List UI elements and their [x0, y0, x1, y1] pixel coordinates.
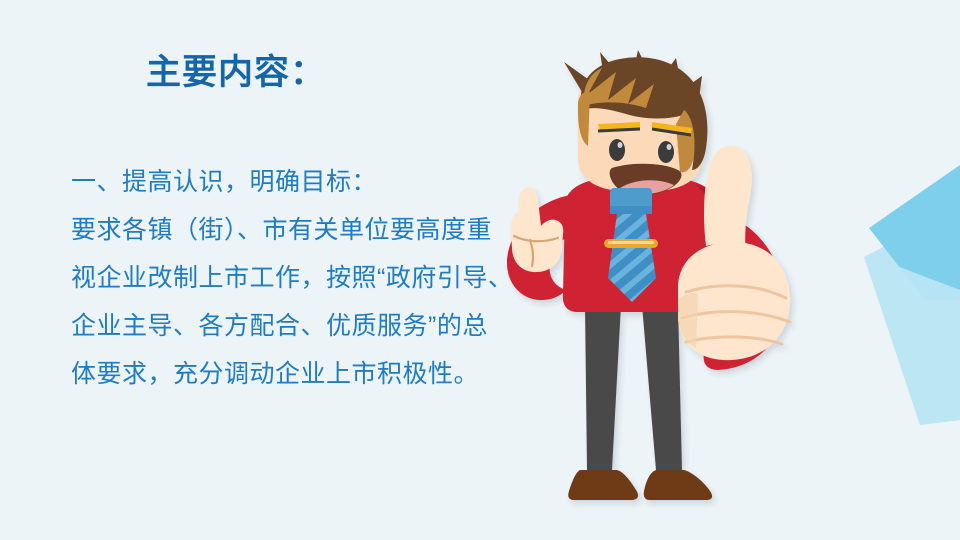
- left-leg: [585, 305, 621, 470]
- body-line-5: 体要求，充分调动企业上市积极性。: [71, 350, 511, 398]
- body-line-3: 视企业改制上市工作，按照“政府引导、: [71, 254, 511, 302]
- head: [564, 50, 707, 195]
- left-shoe: [568, 470, 638, 500]
- legs: [585, 305, 682, 470]
- left-eyebrow-underline: [598, 129, 640, 131]
- thumb: [704, 146, 752, 254]
- right-arm-thumbs-up: [678, 146, 790, 370]
- body-paragraph: 一、提高认识，明确目标： 要求各镇（街）、市有关单位要高度重 视企业改制上市工作…: [71, 158, 511, 398]
- slide-canvas: 主要内容： 一、提高认识，明确目标： 要求各镇（街）、市有关单位要高度重 视企业…: [0, 0, 960, 540]
- left-eye-highlight: [618, 142, 623, 148]
- tie-clip-highlight: [608, 241, 654, 244]
- tie-knot-shadow: [610, 206, 652, 214]
- page-title: 主要内容：: [146, 44, 326, 95]
- right-shoe: [644, 470, 712, 500]
- right-leg: [642, 305, 682, 470]
- fist-inner-shade: [678, 293, 698, 348]
- shoes: [568, 470, 712, 500]
- right-eye: [658, 141, 674, 163]
- body-line-1: 一、提高认识，明确目标：: [71, 158, 511, 206]
- body-line-4: 企业主导、各方配合、优质服务”的总: [71, 302, 511, 350]
- businessman-thumbs-up-illustration: [470, 50, 890, 540]
- body-line-2: 要求各镇（街）、市有关单位要高度重: [71, 206, 511, 254]
- left-eye: [609, 139, 625, 161]
- right-eye-highlight: [667, 144, 672, 150]
